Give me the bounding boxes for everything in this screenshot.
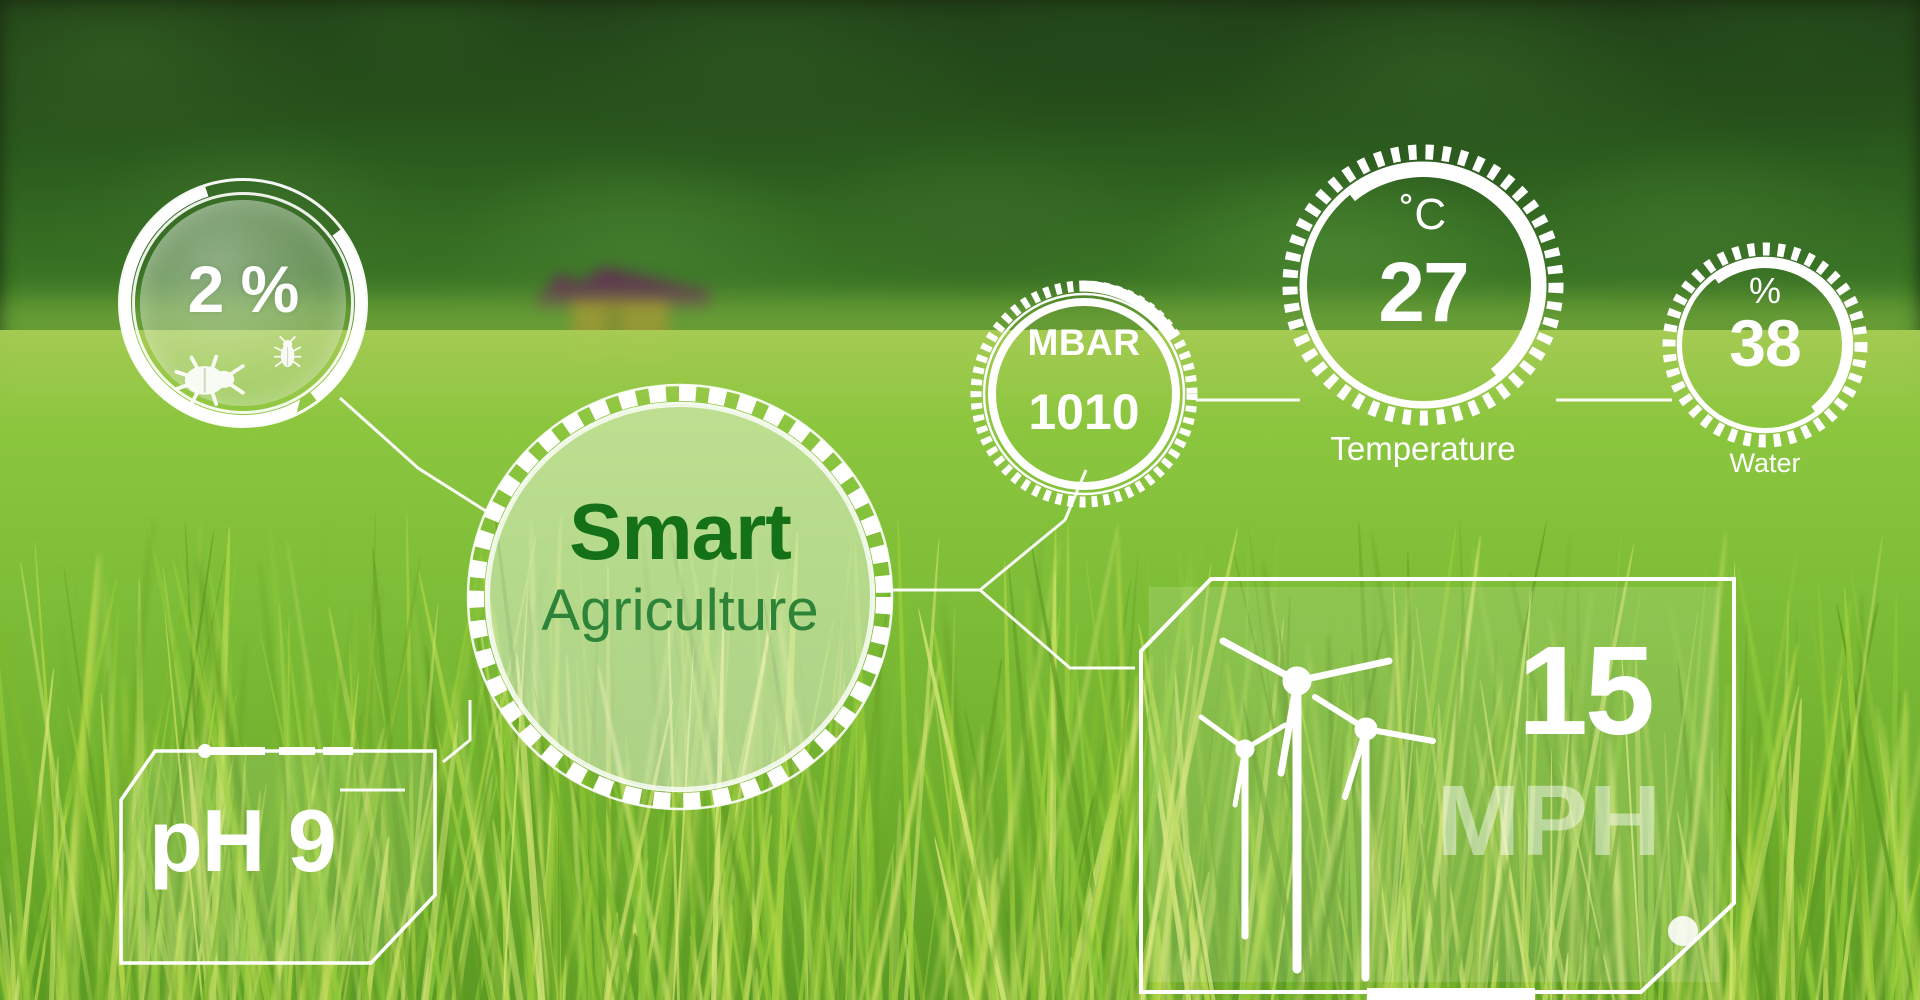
temperature-gauge[interactable]: ˚C 27 Temperature	[1278, 140, 1568, 430]
hub-node[interactable]: Smart Agriculture	[465, 382, 895, 812]
wind-panel-dot	[1668, 916, 1698, 946]
insect-pest-icon	[176, 333, 326, 413]
temperature-unit: ˚C	[1278, 190, 1568, 240]
water-value: 38	[1660, 310, 1870, 376]
water-level-gauge[interactable]: % 38 Water	[1660, 240, 1870, 450]
pest-infestation-gauge[interactable]: 2 %	[118, 178, 368, 428]
temperature-caption: Temperature	[1260, 430, 1586, 468]
water-caption: Water	[1630, 448, 1900, 479]
pest-value: 2 %	[118, 256, 368, 322]
connector-hub-to-wind	[980, 590, 1135, 668]
pressure-unit-label: MBAR	[968, 322, 1200, 364]
ph-value: pH 9	[149, 797, 336, 885]
hub-title: Smart	[465, 492, 895, 572]
hub-subtitle: Agriculture	[465, 582, 895, 640]
pressure-value: 1010	[968, 383, 1200, 441]
temperature-value: 27	[1278, 250, 1568, 334]
wind-speed-unit: MPH	[1437, 771, 1662, 871]
soil-ph-panel[interactable]: pH 9	[113, 745, 443, 970]
wind-speed-value: 15	[1518, 628, 1652, 754]
wind-speed-panel[interactable]: 15 MPH	[1135, 573, 1740, 998]
smart-agriculture-infographic: 2 %	[0, 0, 1920, 1000]
wind-panel-bottom-bar	[1367, 988, 1535, 1000]
barometric-pressure-gauge[interactable]: MBAR 1010	[968, 278, 1200, 510]
